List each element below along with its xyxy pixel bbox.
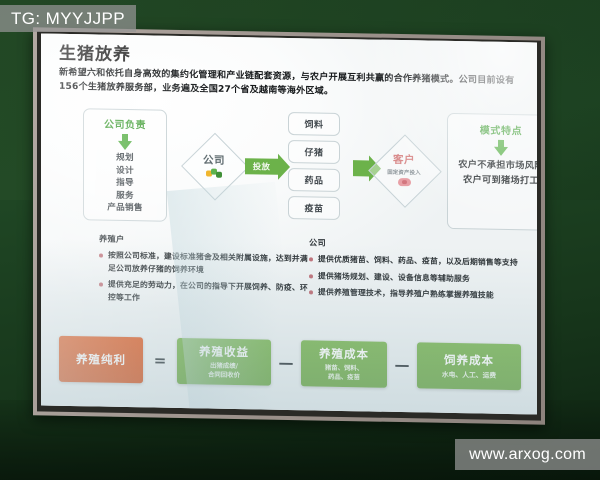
feature-box: 模式特点 农户不承担市场风险 农户可到猪场打工 xyxy=(447,113,537,231)
company-node-label: 公司 xyxy=(184,152,244,178)
responsibility-columns: 养殖户 按照公司标准，建设标准猪舍及相关附属设施，达到并满足公司放养仔猪的饲养环… xyxy=(59,232,521,332)
list-item: 按照公司标准，建设标准猪舍及相关附属设施，达到并满足公司放养仔猪的饲养环境 xyxy=(99,250,309,279)
responsibility-list: 规划 设计 指导 服务 产品销售 xyxy=(84,151,166,215)
operator-minus: — xyxy=(271,354,301,373)
company-logo-icon xyxy=(206,168,222,177)
customer-node-label: 客户 固定资产投入 xyxy=(374,152,434,187)
supply-item: 饲料 xyxy=(288,112,340,136)
bullet-text: 提供优质猪苗、饲料、药品、疫苗，以及后期销售等支持 xyxy=(318,254,521,270)
supply-item: 药品 xyxy=(288,168,340,192)
responsibility-heading: 公司负责 xyxy=(84,115,166,132)
list-item: 提供养殖管理技术，指导养殖户熟练掌握养殖技能 xyxy=(309,286,521,302)
operator-equals: = xyxy=(143,351,177,370)
feature-line: 农户可到猪场打工 xyxy=(448,172,537,189)
watermark-bottom-right: www.arxog.com xyxy=(455,439,600,470)
formula-term-box: 养殖收益 出猪成绩/合同回收价 xyxy=(177,338,271,386)
formula-term-box: 饲养成本 水电、人工、运费 xyxy=(417,342,521,390)
formula-title: 养殖纯利 xyxy=(76,351,126,368)
responsibility-box: 公司负责 规划 设计 指导 服务 产品销售 xyxy=(83,108,167,222)
arrow-down-icon xyxy=(118,134,132,150)
formula-subtitle: 出猪成绩/合同回收价 xyxy=(208,362,240,381)
slide-paragraph: 新希望六和依托自身高效的集约化管理和产业链配套资源，与农户开展互利共赢的合作养猪… xyxy=(59,67,521,102)
presentation-slide: 生猪放养 新希望六和依托自身高效的集约化管理和产业链配套资源，与农户开展互利共赢… xyxy=(41,33,537,414)
formula-subtitle: 水电、人工、运费 xyxy=(442,371,496,381)
supply-item: 疫苗 xyxy=(288,196,340,220)
slide-content: 生猪放养 新希望六和依托自身高效的集约化管理和产业链配套资源，与农户开展互利共赢… xyxy=(41,33,537,414)
profit-formula: 养殖纯利 = 养殖收益 出猪成绩/合同回收价 — 养殖成本 猪苗、饲料、药品、疫… xyxy=(59,330,521,396)
photo-scene: 生猪放养 新希望六和依托自身高效的集约化管理和产业链配套资源，与农户开展互利共赢… xyxy=(0,0,600,480)
formula-subtitle: 猪苗、饲料、药品、疫苗 xyxy=(325,364,363,383)
formula-result-box: 养殖纯利 xyxy=(59,336,143,384)
supply-arrow: 投放 xyxy=(245,153,290,180)
company-column: 公司 提供优质猪苗、饲料、药品、疫苗，以及后期销售等支持 提供猪场规划、建设、设… xyxy=(309,236,521,306)
list-item: 产品销售 xyxy=(84,201,166,215)
list-item: 提供优质猪苗、饲料、药品、疫苗，以及后期销售等支持 xyxy=(309,253,521,269)
farmer-column: 养殖户 按照公司标准，建设标准猪舍及相关附属设施，达到并满足公司放养仔猪的饲养环… xyxy=(99,233,309,312)
list-item: 提供充足的劳动力，在公司的指导下开展饲养、防疫、环控等工作 xyxy=(99,279,309,308)
column-heading: 养殖户 xyxy=(99,233,309,249)
bullet-text: 按照公司标准，建设标准猪舍及相关附属设施，达到并满足公司放养仔猪的饲养环境 xyxy=(108,250,309,279)
pig-icon xyxy=(398,178,411,186)
formula-title: 饲养成本 xyxy=(444,352,494,369)
bullet-text: 提供充足的劳动力，在公司的指导下开展饲养、防疫、环控等工作 xyxy=(108,279,309,308)
slide-header: 生猪放养 新希望六和依托自身高效的集约化管理和产业链配套资源，与农户开展互利共赢… xyxy=(59,44,521,102)
formula-title: 养殖收益 xyxy=(199,343,249,360)
supply-arrow-label: 投放 xyxy=(253,160,271,172)
column-heading: 公司 xyxy=(309,236,521,252)
company-node-text: 公司 xyxy=(184,152,244,168)
bullet-text: 提供养殖管理技术，指导养殖户熟练掌握养殖技能 xyxy=(318,287,521,303)
arrow-down-icon xyxy=(494,140,508,156)
feature-heading: 模式特点 xyxy=(448,121,537,138)
formula-title: 养殖成本 xyxy=(319,346,369,363)
watermark-top-left: TG: MYYJJPP xyxy=(0,5,136,32)
customer-node-subtext: 固定资产投入 xyxy=(374,168,434,177)
feature-line: 农户不承担市场风险 xyxy=(448,157,537,174)
supply-item: 仔猪 xyxy=(288,140,340,164)
bullet-text: 提供猪场规划、建设、设备信息等辅助服务 xyxy=(318,270,521,286)
flow-diagram: 公司负责 规划 设计 指导 服务 产品销售 公司 xyxy=(59,106,521,232)
list-item: 提供猪场规划、建设、设备信息等辅助服务 xyxy=(309,270,521,286)
formula-term-box: 养殖成本 猪苗、饲料、药品、疫苗 xyxy=(301,340,387,388)
operator-minus: — xyxy=(387,356,417,375)
customer-node-text: 客户 xyxy=(374,152,434,168)
